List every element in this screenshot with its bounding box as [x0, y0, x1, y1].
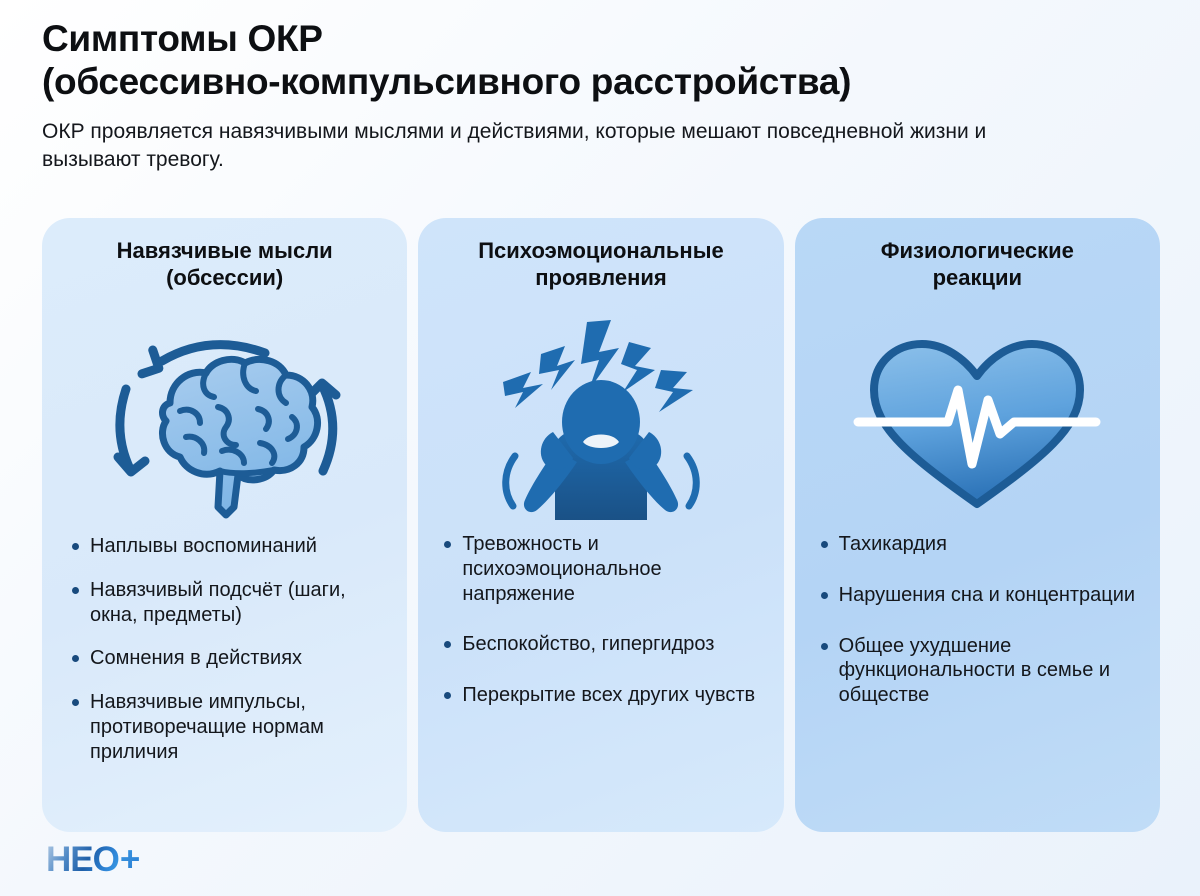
list-item: Перекрытие всех других чувств	[442, 683, 763, 708]
card-obsessions: Навязчивые мысли (обсессии)	[42, 218, 407, 832]
card-psychoemotional-title-line-2: проявления	[535, 265, 667, 290]
stressed-person-icon	[418, 304, 783, 532]
card-psychoemotional-bullets: Тревожность и психоэмоциональное напряже…	[418, 532, 783, 832]
brain-cycle-icon	[42, 304, 407, 532]
page-title-line-2: (обсессивно-компульсивного расстройства)	[42, 61, 1172, 104]
card-psychoemotional-title-line-1: Психоэмоциональные	[478, 238, 724, 263]
infographic-page: Симптомы ОКР (обсессивно-компульсивного …	[0, 0, 1200, 896]
card-obsessions-bullets: Наплывы воспоминаний Навязчивый подсчёт …	[42, 532, 407, 832]
card-physiological-bullets: Тахикардия Нарушения сна и концентрации …	[795, 532, 1160, 832]
card-psychoemotional-title: Психоэмоциональные проявления	[418, 218, 783, 302]
list-item: Сомнения в действиях	[70, 646, 387, 671]
header: Симптомы ОКР (обсессивно-компульсивного …	[42, 18, 1172, 173]
card-psychoemotional: Психоэмоциональные проявления	[418, 218, 783, 832]
brand-logo: НЕО +	[46, 840, 140, 880]
list-item: Навязчивые импульсы, противоречащие норм…	[70, 690, 387, 764]
list-item: Беспокойство, гипергидроз	[442, 632, 763, 657]
list-item: Навязчивый подсчёт (шаги, окна, предметы…	[70, 578, 387, 628]
list-item: Общее ухудшение функциональности в семье…	[819, 634, 1140, 708]
card-obsessions-title: Навязчивые мысли (обсессии)	[42, 218, 407, 302]
card-physiological: Физиологические реакции	[795, 218, 1160, 832]
card-physiological-title-line-1: Физиологические	[881, 238, 1074, 263]
brand-logo-text: НЕО	[46, 840, 119, 880]
brand-logo-plus-icon: +	[120, 840, 140, 880]
symptom-cards: Навязчивые мысли (обсессии)	[42, 218, 1160, 832]
list-item: Тревожность и психоэмоциональное напряже…	[442, 532, 763, 606]
heart-pulse-icon	[795, 304, 1160, 532]
list-item: Нарушения сна и концентрации	[819, 583, 1140, 608]
page-subtitle: ОКР проявляется навязчивыми мыслями и де…	[42, 118, 1072, 173]
list-item: Наплывы воспоминаний	[70, 534, 387, 559]
page-title-line-1: Симптомы ОКР	[42, 18, 323, 59]
card-physiological-title: Физиологические реакции	[795, 218, 1160, 302]
list-item: Тахикардия	[819, 532, 1140, 557]
card-obsessions-title-line-2: (обсессии)	[166, 265, 283, 290]
page-title: Симптомы ОКР (обсессивно-компульсивного …	[42, 18, 1172, 104]
card-obsessions-title-line-1: Навязчивые мысли	[117, 238, 333, 263]
card-physiological-title-line-2: реакции	[933, 265, 1023, 290]
